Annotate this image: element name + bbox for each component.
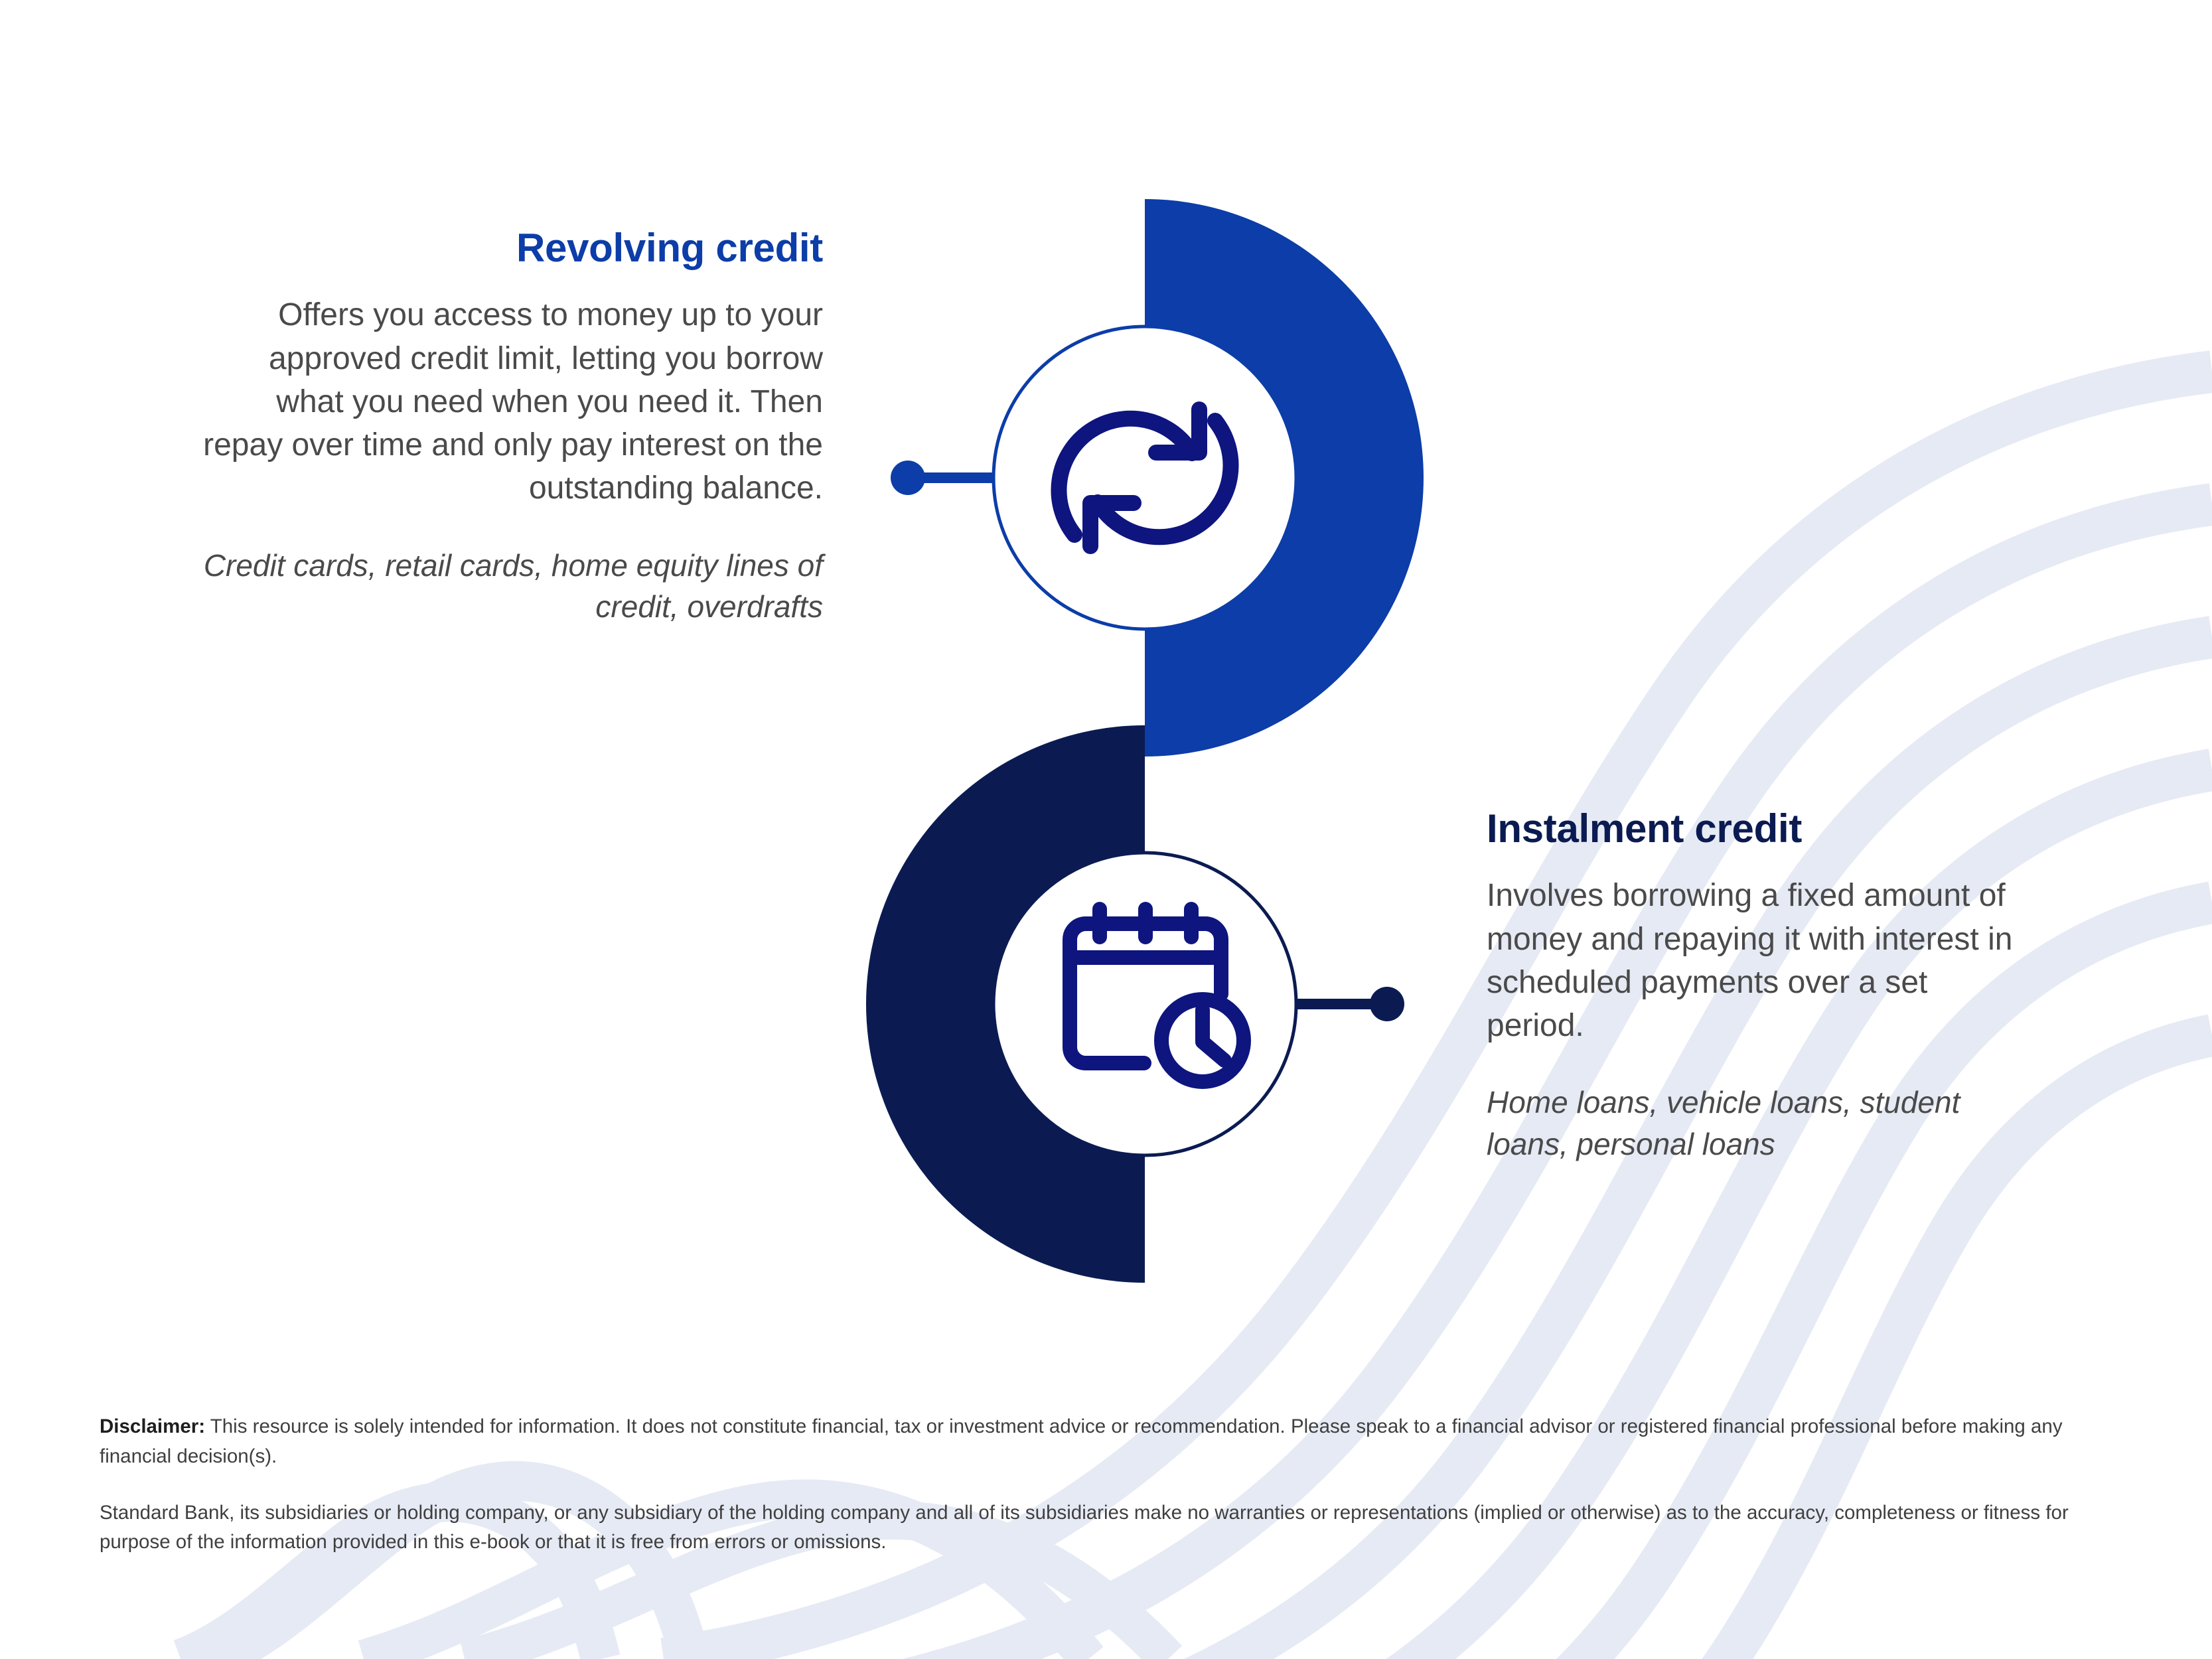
revolving-connector-dot	[891, 461, 925, 495]
disclaimer-paragraph-1-text: This resource is solely intended for inf…	[100, 1415, 2063, 1467]
revolving-icon-circle	[994, 326, 1296, 629]
disclaimer-section: Disclaimer: This resource is solely inte…	[100, 1412, 2110, 1557]
disclaimer-label: Disclaimer:	[100, 1415, 205, 1437]
revolving-half-disc	[1145, 199, 1424, 757]
revolving-credit-examples: Credit cards, retail cards, home equity …	[199, 545, 823, 628]
instalment-credit-heading: Instalment credit	[1487, 806, 2018, 851]
instalment-connector-dot	[1370, 987, 1404, 1021]
instalment-credit-description: Involves borrowing a fixed amount of mon…	[1487, 874, 2018, 1047]
refresh-icon	[1059, 409, 1230, 546]
revolving-credit-description: Offers you access to money up to your ap…	[199, 293, 823, 510]
revolving-credit-text-block: Revolving credit Offers you access to mo…	[199, 226, 823, 628]
revolving-credit-heading: Revolving credit	[199, 226, 823, 271]
calendar-clock-icon	[1070, 909, 1244, 1082]
instalment-icon-circle	[994, 853, 1296, 1155]
instalment-half-disc	[866, 725, 1145, 1283]
disclaimer-paragraph-1: Disclaimer: This resource is solely inte…	[100, 1412, 2110, 1472]
instalment-credit-examples: Home loans, vehicle loans, student loans…	[1487, 1082, 2018, 1165]
instalment-credit-text-block: Instalment credit Involves borrowing a f…	[1487, 806, 2018, 1165]
disclaimer-paragraph-2: Standard Bank, its subsidiaries or holdi…	[100, 1498, 2110, 1558]
